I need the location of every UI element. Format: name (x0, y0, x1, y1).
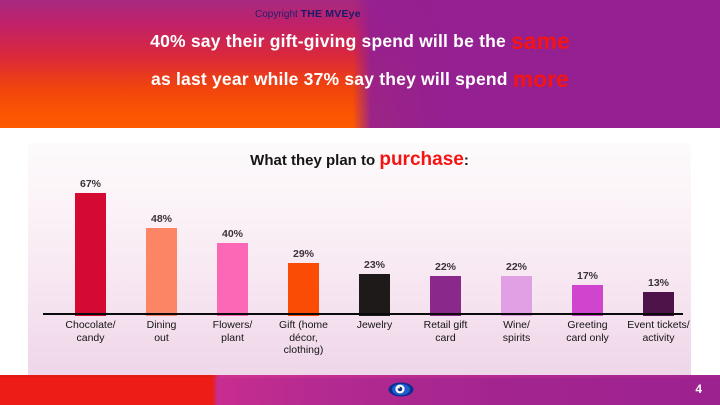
x-axis-label: Chocolate/candy (50, 319, 131, 344)
copyright-label: Copyright (255, 9, 298, 20)
headline-line-2-highlight: more (513, 66, 569, 92)
headline-line-1: 40% say their gift-giving spend will be … (0, 28, 720, 55)
bar-group[interactable]: 13% (623, 171, 694, 316)
x-axis-label-line: Chocolate/ (50, 319, 131, 332)
bar-value-label: 13% (623, 277, 694, 289)
bar-group[interactable]: 23% (339, 171, 410, 316)
x-axis-label: Greetingcard only (547, 319, 628, 344)
x-axis-label: Flowers/plant (192, 319, 273, 344)
chart-title-prefix: What they plan to (250, 152, 379, 169)
chart-title-suffix: : (464, 152, 469, 169)
x-axis-label-line: Flowers/ (192, 319, 273, 332)
bar-slot: 23% (339, 171, 410, 316)
x-axis-label-line: Greeting (547, 319, 628, 332)
x-axis-label: Wine/spirits (476, 319, 557, 344)
chart-panel: What they plan to purchase: 67%48%40%29%… (28, 143, 691, 375)
x-axis-line (43, 313, 683, 315)
x-axis-label: Retail giftcard (405, 319, 486, 344)
x-axis-label-line: Gift (home (263, 319, 344, 332)
bar-group[interactable]: 17% (552, 171, 623, 316)
bar-slot: 17% (552, 171, 623, 316)
x-axis-label-line: Retail gift (405, 319, 486, 332)
page-number: 4 (695, 382, 702, 396)
bar-rect[interactable] (359, 274, 390, 316)
bar-group[interactable]: 22% (410, 171, 481, 316)
bar-value-label: 29% (268, 248, 339, 260)
bar-value-label: 48% (126, 213, 197, 225)
bar-value-label: 23% (339, 259, 410, 271)
bar-chart-plot-area: 67%48%40%29%23%22%22%17%13% (43, 171, 683, 316)
bar-slot: 22% (410, 171, 481, 316)
x-axis-label-line: out (121, 332, 202, 345)
bar-value-label: 22% (481, 261, 552, 273)
bar-slot: 67% (55, 171, 126, 316)
x-axis-label-line: activity (618, 332, 699, 345)
x-axis-labels: Chocolate/candyDiningoutFlowers/plantGif… (43, 319, 683, 371)
x-axis-label-line: spirits (476, 332, 557, 345)
footer-top-stripe (0, 375, 720, 378)
bar-group[interactable]: 67% (55, 171, 126, 316)
headline-line-1-highlight: same (511, 28, 570, 54)
bar-slot: 29% (268, 171, 339, 316)
x-axis-label-line: plant (192, 332, 273, 345)
mveye-logo-icon (388, 381, 414, 398)
bar-rect[interactable] (572, 285, 603, 316)
bar-slot: 40% (197, 171, 268, 316)
bar-rect[interactable] (288, 263, 319, 316)
bar-group[interactable]: 48% (126, 171, 197, 316)
x-axis-label-line: Jewelry (334, 319, 415, 332)
headline-line-2: as last year while 37% say they will spe… (0, 66, 720, 93)
bar-rect[interactable] (146, 228, 177, 316)
bar-rect[interactable] (75, 193, 106, 316)
x-axis-label: Jewelry (334, 319, 415, 332)
x-axis-label-line: Wine/ (476, 319, 557, 332)
x-axis-label-line: décor, (263, 332, 344, 345)
x-axis-label-line: card only (547, 332, 628, 345)
bar-group[interactable]: 40% (197, 171, 268, 316)
x-axis-label: Gift (homedécor,clothing) (263, 319, 344, 357)
bar-rect[interactable] (217, 243, 248, 316)
x-axis-label: Diningout (121, 319, 202, 344)
bar-group[interactable]: 29% (268, 171, 339, 316)
copyright-text: Copyright THE MVEye (255, 8, 361, 20)
x-axis-label-line: clothing) (263, 344, 344, 357)
chart-title: What they plan to purchase: (28, 149, 691, 171)
slide: 40% say their gift-giving spend will be … (0, 0, 720, 405)
bar-value-label: 17% (552, 270, 623, 282)
bar-slot: 22% (481, 171, 552, 316)
x-axis-label-line: Event tickets/ (618, 319, 699, 332)
bar-value-label: 22% (410, 261, 481, 273)
bar-slot: 48% (126, 171, 197, 316)
headline-line-1-text: 40% say their gift-giving spend will be … (150, 31, 511, 51)
x-axis-label-line: Dining (121, 319, 202, 332)
headline-line-2-text: as last year while 37% say they will spe… (151, 69, 513, 89)
brand-name: THE MVEye (301, 8, 361, 20)
x-axis-label-line: card (405, 332, 486, 345)
x-axis-label: Event tickets/activity (618, 319, 699, 344)
bar-slot: 13% (623, 171, 694, 316)
bar-rect[interactable] (430, 276, 461, 316)
chart-title-highlight: purchase (379, 149, 463, 170)
x-axis-label-line: candy (50, 332, 131, 345)
bar-group[interactable]: 22% (481, 171, 552, 316)
bar-value-label: 67% (55, 178, 126, 190)
footer-bar (0, 375, 720, 405)
bar-value-label: 40% (197, 228, 268, 240)
bar-rect[interactable] (501, 276, 532, 316)
